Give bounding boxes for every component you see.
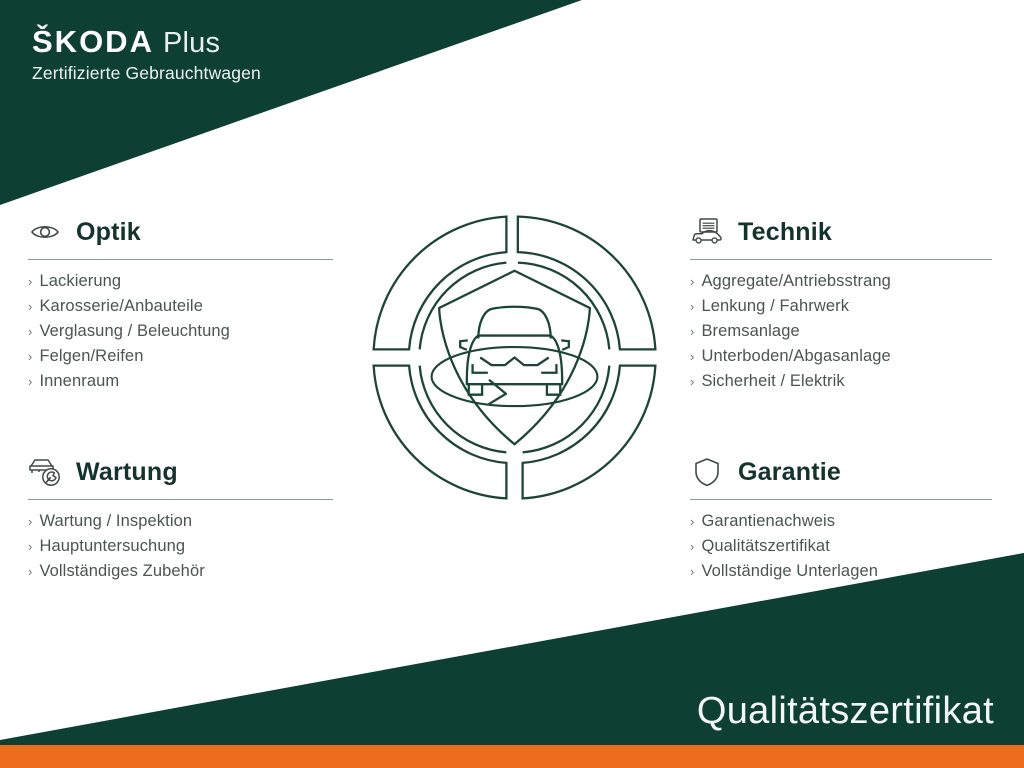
section-wartung: Wartung ›Wartung / Inspektion ›Hauptunte… [28,452,333,584]
brand-suffix: Plus [163,29,220,58]
list-item: ›Verglasung / Beleuchtung [28,319,333,344]
list-item: ›Vollständiges Zubehör [28,559,333,584]
list-item: ›Lenkung / Fahrwerk [690,294,992,319]
page-title: Qualitätszertifikat [697,692,994,730]
skoda-wordmark: ŠKODA Plus [32,26,261,58]
section-garantie: Garantie ›Garantienachweis ›Qualitätszer… [690,452,992,584]
section-garantie-list: ›Garantienachweis ›Qualitätszertifikat ›… [690,509,992,584]
list-item: ›Karosserie/Anbauteile [28,294,333,319]
chevron-right-icon: › [690,269,694,294]
chevron-right-icon: › [28,319,32,344]
list-item-label: Qualitätszertifikat [701,534,829,559]
section-optik-header: Optik [28,212,333,252]
car-wrench-icon [28,456,62,488]
list-item-label: Verglasung / Beleuchtung [39,319,229,344]
orange-footer-bar [0,745,1024,768]
list-item: ›Unterboden/Abgasanlage [690,344,992,369]
section-wartung-title: Wartung [76,460,178,485]
section-technik-header: Technik [690,212,992,252]
list-item-label: Bremsanlage [701,319,799,344]
certified-vehicle-emblem [362,205,667,510]
left-column: Optik ›Lackierung ›Karosserie/Anbauteile… [28,212,333,584]
chevron-right-icon: › [28,269,32,294]
list-item: ›Sicherheit / Elektrik [690,369,992,394]
orbit-ellipse [432,347,598,406]
chevron-right-icon: › [690,319,694,344]
section-technik: Technik ›Aggregate/Antriebsstrang ›Lenku… [690,212,992,394]
chevron-right-icon: › [28,559,32,584]
list-item-label: Hauptuntersuchung [39,534,185,559]
right-column: Technik ›Aggregate/Antriebsstrang ›Lenku… [690,212,992,584]
section-wartung-divider [28,499,333,500]
chevron-right-icon: › [28,534,32,559]
section-optik-list: ›Lackierung ›Karosserie/Anbauteile ›Verg… [28,269,333,394]
chevron-right-icon: › [28,509,32,534]
list-item-label: Innenraum [39,369,119,394]
chevron-right-icon: › [28,344,32,369]
eye-icon [28,216,62,248]
section-optik-divider [28,259,333,260]
list-item: ›Innenraum [28,369,333,394]
list-item: ›Bremsanlage [690,319,992,344]
chevron-right-icon: › [690,294,694,319]
list-item-label: Lackierung [39,269,121,294]
chevron-right-icon: › [690,369,694,394]
section-garantie-title: Garantie [738,460,841,485]
chevron-right-icon: › [28,294,32,319]
car-garage-icon [690,216,724,248]
chevron-right-icon: › [690,534,694,559]
list-item-label: Unterboden/Abgasanlage [701,344,890,369]
list-item-label: Sicherheit / Elektrik [701,369,844,394]
brand-logo: ŠKODA Plus Zertifizierte Gebrauchtwagen [32,26,261,83]
list-item-label: Wartung / Inspektion [39,509,192,534]
section-wartung-list: ›Wartung / Inspektion ›Hauptuntersuchung… [28,509,333,584]
list-item-label: Vollständige Unterlagen [701,559,878,584]
brand-name: ŠKODA [32,26,154,57]
brand-tagline: Zertifizierte Gebrauchtwagen [32,64,261,83]
list-item: ›Qualitätszertifikat [690,534,992,559]
list-item: ›Garantienachweis [690,509,992,534]
chevron-right-icon: › [690,344,694,369]
list-item-label: Lenkung / Fahrwerk [701,294,849,319]
section-optik-title: Optik [76,220,141,245]
chevron-right-icon: › [28,369,32,394]
section-optik: Optik ›Lackierung ›Karosserie/Anbauteile… [28,212,333,394]
list-item: ›Wartung / Inspektion [28,509,333,534]
section-technik-divider [690,259,992,260]
list-item-label: Vollständiges Zubehör [39,559,204,584]
section-garantie-divider [690,499,992,500]
list-item: ›Vollständige Unterlagen [690,559,992,584]
chevron-right-icon: › [690,509,694,534]
shield-icon [690,456,724,488]
list-item: ›Lackierung [28,269,333,294]
section-wartung-header: Wartung [28,452,333,492]
section-technik-list: ›Aggregate/Antriebsstrang ›Lenkung / Fah… [690,269,992,394]
list-item-label: Felgen/Reifen [39,344,143,369]
section-technik-title: Technik [738,220,832,245]
chevron-right-icon: › [690,559,694,584]
list-item: ›Hauptuntersuchung [28,534,333,559]
list-item-label: Garantienachweis [701,509,835,534]
list-item: ›Felgen/Reifen [28,344,333,369]
certificate-poster: ŠKODA Plus Zertifizierte Gebrauchtwagen … [0,0,1024,768]
list-item-label: Karosserie/Anbauteile [39,294,203,319]
list-item: ›Aggregate/Antriebsstrang [690,269,992,294]
list-item-label: Aggregate/Antriebsstrang [701,269,891,294]
section-garantie-header: Garantie [690,452,992,492]
